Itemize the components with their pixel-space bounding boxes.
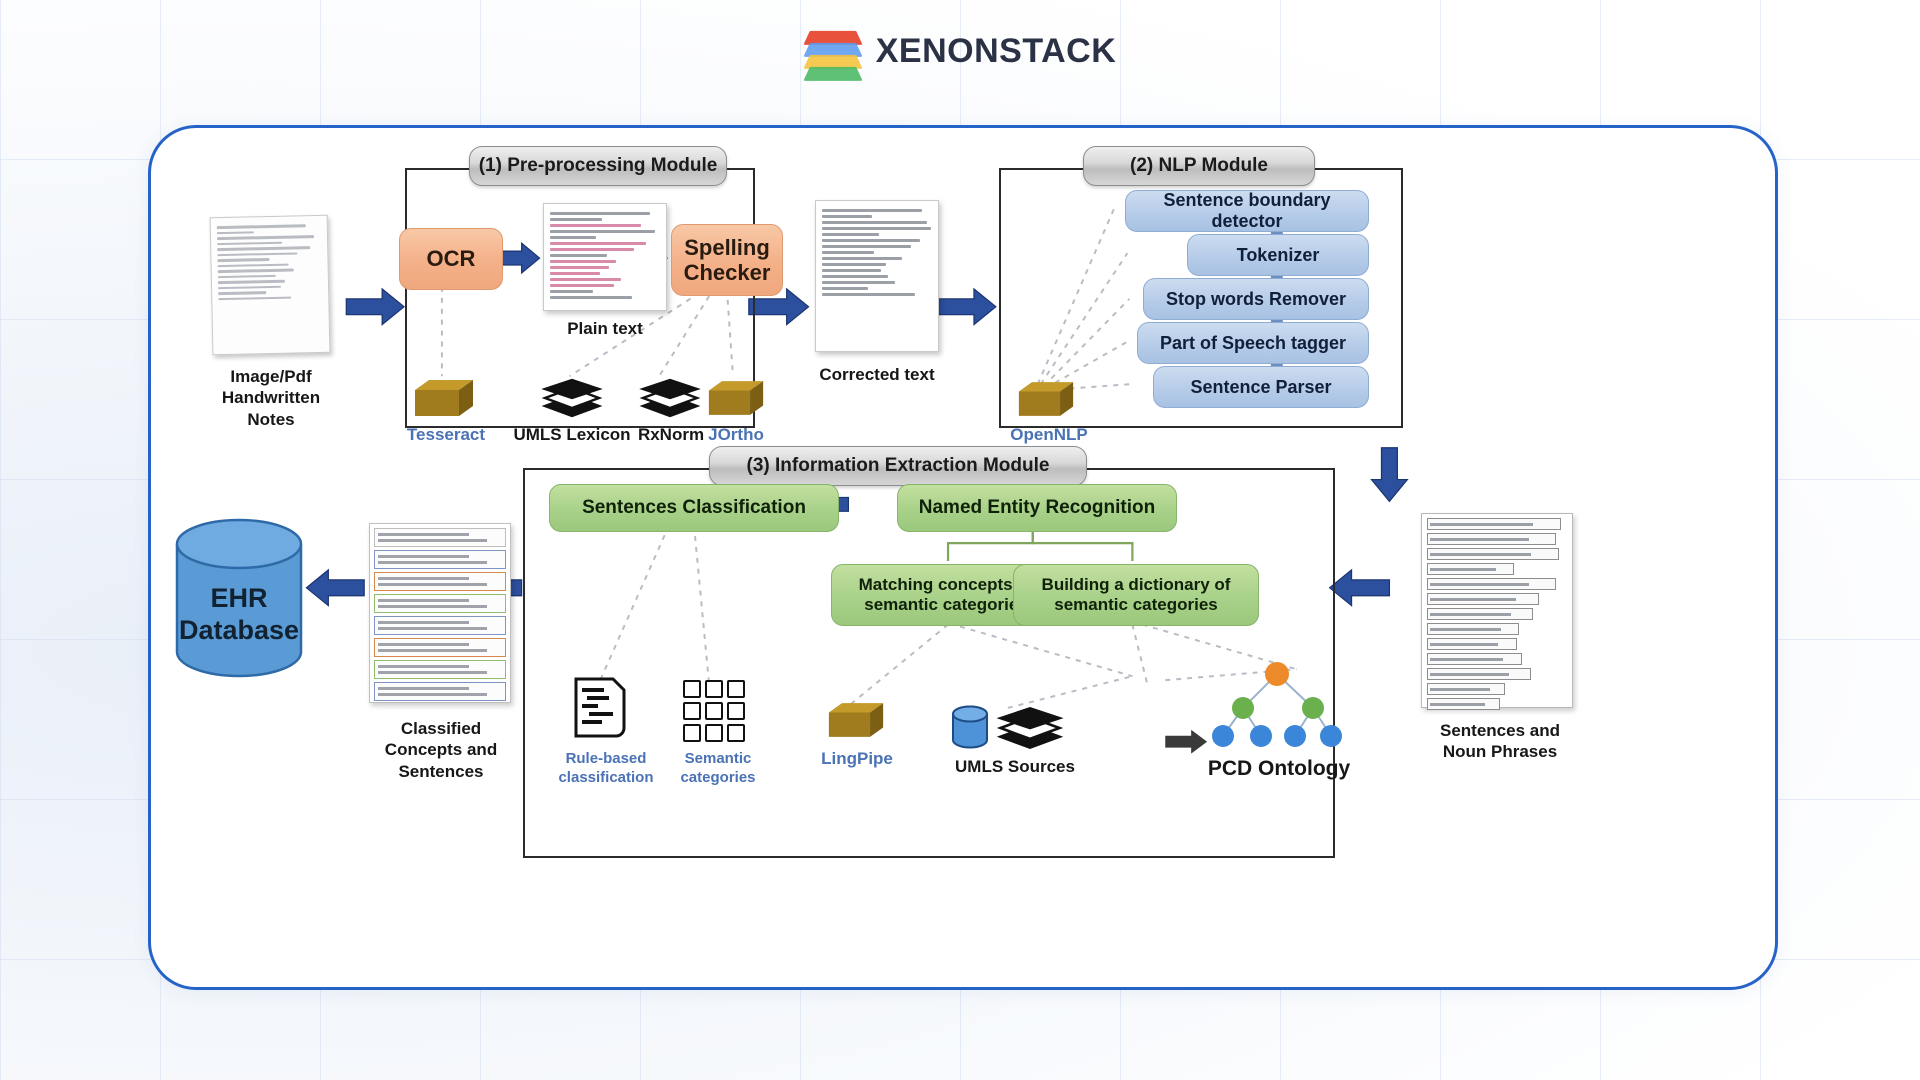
semantic-categories-line-2: categories bbox=[663, 769, 773, 788]
classified-card bbox=[374, 616, 506, 635]
tool-label-umls-lexicon: UMLS Lexicon bbox=[511, 424, 633, 445]
input-notes-caption: Image/Pdf Handwritten Notes bbox=[193, 366, 349, 430]
brand-header: XENONSTACK bbox=[0, 22, 1920, 80]
ocr-box[interactable]: OCR bbox=[399, 228, 503, 290]
tool-label-semantic-categories: Semantic categories bbox=[663, 750, 773, 788]
arrow-notes-to-preprocessing bbox=[346, 289, 404, 325]
classified-concepts-caption: Classified Concepts and Sentences bbox=[353, 718, 529, 782]
spelling-checker-line-2: Checker bbox=[684, 260, 771, 285]
tool-label-tesseract: Tesseract bbox=[391, 424, 501, 445]
nlp-step-sentence-boundary-detector[interactable]: Sentence boundary detector bbox=[1125, 190, 1369, 232]
ontology-mid-node bbox=[1302, 697, 1324, 719]
ehr-label-line-1: EHR bbox=[173, 582, 305, 614]
input-caption-line-3: Notes bbox=[193, 409, 349, 430]
extraction-box-building-dictionary[interactable]: Building a dictionary of semantic catego… bbox=[1013, 564, 1259, 626]
classified-card bbox=[374, 638, 506, 657]
grid-icon bbox=[683, 680, 745, 742]
sentences-caption-line-2: Noun Phrases bbox=[1405, 741, 1595, 762]
books-icon bbox=[539, 376, 605, 420]
tool-label-umls-sources: UMLS Sources bbox=[941, 756, 1089, 777]
nlp-step-part-of-speech-tagger[interactable]: Part of Speech tagger bbox=[1137, 322, 1369, 364]
arrow-nlp-to-sentences bbox=[1371, 448, 1407, 502]
ontology-leaf-node bbox=[1212, 725, 1234, 747]
corrected-text-caption: Corrected text bbox=[799, 364, 955, 385]
rule-based-line-1: Rule-based bbox=[545, 750, 667, 769]
classified-caption-line-1: Classified bbox=[353, 718, 529, 739]
classified-card bbox=[374, 572, 506, 591]
classified-card bbox=[374, 594, 506, 613]
ontology-tree-icon bbox=[1203, 652, 1351, 756]
box-3d-icon bbox=[1017, 378, 1075, 420]
nlp-step-stop-words-remover[interactable]: Stop words Remover bbox=[1143, 278, 1369, 320]
building-dictionary-line-1: Building a dictionary of bbox=[1042, 575, 1231, 595]
extraction-module-title: (3) Information Extraction Module bbox=[709, 446, 1087, 486]
classified-caption-line-3: Sentences bbox=[353, 761, 529, 782]
books-icon bbox=[993, 704, 1067, 752]
rule-document-icon bbox=[571, 676, 629, 744]
sentences-noun-phrases-caption: Sentences and Noun Phrases bbox=[1405, 720, 1595, 763]
classified-card bbox=[374, 550, 506, 569]
plain-text-caption: Plain text bbox=[543, 318, 667, 339]
classified-caption-line-2: Concepts and bbox=[353, 739, 529, 760]
corrected-text-document bbox=[815, 200, 939, 352]
arrow-corrected-to-nlp bbox=[936, 289, 996, 325]
box-3d-icon bbox=[827, 698, 885, 742]
handwritten-notes-thumbnail bbox=[210, 215, 331, 355]
nlp-module-title: (2) NLP Module bbox=[1083, 146, 1315, 186]
tool-label-opennlp: OpenNLP bbox=[993, 424, 1105, 445]
ontology-leaf-node bbox=[1250, 725, 1272, 747]
input-caption-line-1: Image/Pdf bbox=[193, 366, 349, 387]
books-icon bbox=[637, 376, 703, 420]
classified-concepts-document bbox=[369, 523, 511, 703]
matching-concepts-line-2: semantic categories bbox=[864, 595, 1027, 615]
sentences-caption-line-1: Sentences and bbox=[1405, 720, 1595, 741]
arrow-sentences-to-extraction bbox=[1330, 570, 1390, 606]
spelling-checker-line-1: Spelling bbox=[684, 235, 770, 260]
semantic-categories-line-1: Semantic bbox=[663, 750, 773, 769]
extraction-box-sentences-classification[interactable]: Sentences Classification bbox=[549, 484, 839, 532]
diagram-card: (1) Pre-processing Module Image/Pdf Hand… bbox=[148, 125, 1778, 990]
brand-name: XENONSTACK bbox=[876, 32, 1117, 71]
input-caption-line-2: Handwritten bbox=[193, 387, 349, 408]
box-3d-icon bbox=[413, 376, 475, 420]
nlp-step-sentence-parser[interactable]: Sentence Parser bbox=[1153, 366, 1369, 408]
ontology-mid-node bbox=[1232, 697, 1254, 719]
nlp-step-tokenizer[interactable]: Tokenizer bbox=[1187, 234, 1369, 276]
extraction-box-named-entity-recognition[interactable]: Named Entity Recognition bbox=[897, 484, 1177, 532]
ehr-database-cylinder: EHR Database bbox=[173, 518, 305, 678]
ontology-leaf-node bbox=[1284, 725, 1306, 747]
building-dictionary-line-2: semantic categories bbox=[1054, 595, 1217, 615]
ontology-leaf-node bbox=[1320, 725, 1342, 747]
diagram-canvas: (1) Pre-processing Module Image/Pdf Hand… bbox=[151, 128, 1775, 987]
stacked-layers-logo bbox=[804, 22, 862, 80]
tool-label-rule-based-classification: Rule-based classification bbox=[545, 750, 667, 788]
tool-label-jortho: JOrtho bbox=[691, 424, 781, 445]
matching-concepts-line-1: Matching concepts to bbox=[859, 575, 1034, 595]
cylinder-icon bbox=[951, 704, 989, 752]
tool-label-lingpipe: LingPipe bbox=[801, 748, 913, 769]
tool-label-pcd-ontology: PCD Ontology bbox=[1191, 756, 1367, 782]
arrow-classified-to-database bbox=[306, 570, 364, 606]
ontology-root-node bbox=[1265, 662, 1289, 686]
rule-based-line-2: classification bbox=[545, 769, 667, 788]
plain-text-document bbox=[543, 203, 667, 311]
classified-card bbox=[374, 660, 506, 679]
ehr-label-line-2: Database bbox=[173, 614, 305, 646]
spelling-checker-box[interactable]: Spelling Checker bbox=[671, 224, 783, 296]
classified-card bbox=[374, 528, 506, 547]
box-3d-icon bbox=[707, 376, 765, 420]
sentences-noun-phrases-document bbox=[1421, 513, 1573, 708]
classified-card bbox=[374, 682, 506, 701]
preprocessing-module-title: (1) Pre-processing Module bbox=[469, 146, 727, 186]
